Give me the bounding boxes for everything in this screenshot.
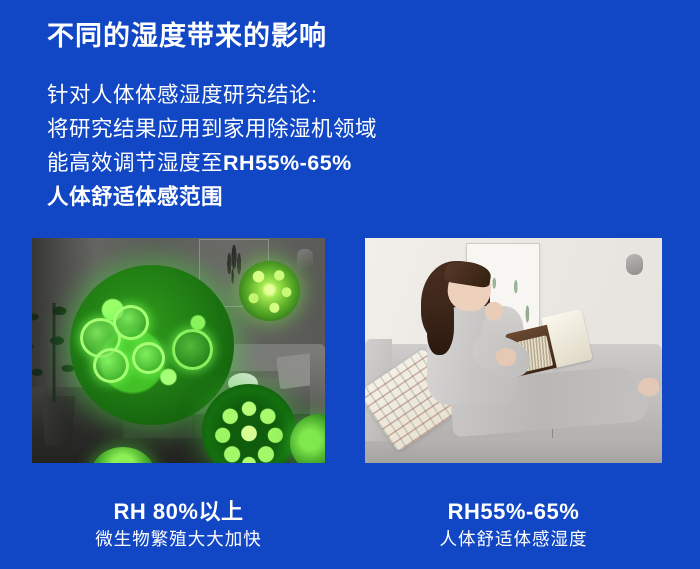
germ-blob [172, 329, 213, 371]
body-line-4: 人体舒适体感范围 [47, 180, 377, 214]
image-comfort-room [365, 238, 662, 463]
germ-blob [132, 342, 165, 374]
caption-subtitle: 微生物繁殖大大加快 [32, 526, 325, 552]
woman-foot [638, 378, 659, 396]
body-line-1: 针对人体体感湿度研究结论: [47, 78, 377, 112]
sofa-armrest [310, 351, 325, 419]
germ-surface-nodes [239, 261, 301, 322]
body-line-3-text: 能高效调节湿度至 [47, 151, 223, 175]
caption-subtitle: 人体舒适体感湿度 [365, 526, 662, 552]
dark-living-room-scene [32, 238, 325, 463]
germ-blob [113, 305, 149, 340]
woman-hand-holding-book [496, 348, 517, 366]
germ-blob [93, 348, 129, 383]
page-title: 不同的湿度带来的影响 [47, 17, 327, 55]
germ-sphere-large-icon [70, 265, 234, 425]
infographic-humidity-effects: { "theme": { "background": "#1147c4", "t… [0, 0, 700, 569]
caption-germ-room: RH 80%以上 微生物繁殖大大加快 [32, 498, 325, 552]
body-copy: 针对人体体感湿度研究结论: 将研究结果应用到家用除湿机领域 能高效调节湿度至RH… [47, 78, 377, 214]
body-line-3: 能高效调节湿度至RH55%-65% [47, 146, 377, 180]
bright-living-room-scene [365, 238, 662, 463]
wall-speaker-icon [626, 254, 643, 275]
woman-hand-at-face [485, 302, 503, 320]
wall-speaker-icon [297, 249, 313, 271]
woman-hair-strand [427, 301, 454, 355]
image-germ-room [32, 238, 325, 463]
caption-title: RH55%-65% [365, 498, 662, 526]
caption-comfort-room: RH55%-65% 人体舒适体感湿度 [365, 498, 662, 552]
germ-sphere-upper-icon [239, 261, 301, 322]
body-line-3-highlight: RH55%-65% [223, 151, 352, 175]
caption-title: RH 80%以上 [32, 498, 325, 526]
body-line-2: 将研究结果应用到家用除湿机领域 [47, 112, 377, 146]
